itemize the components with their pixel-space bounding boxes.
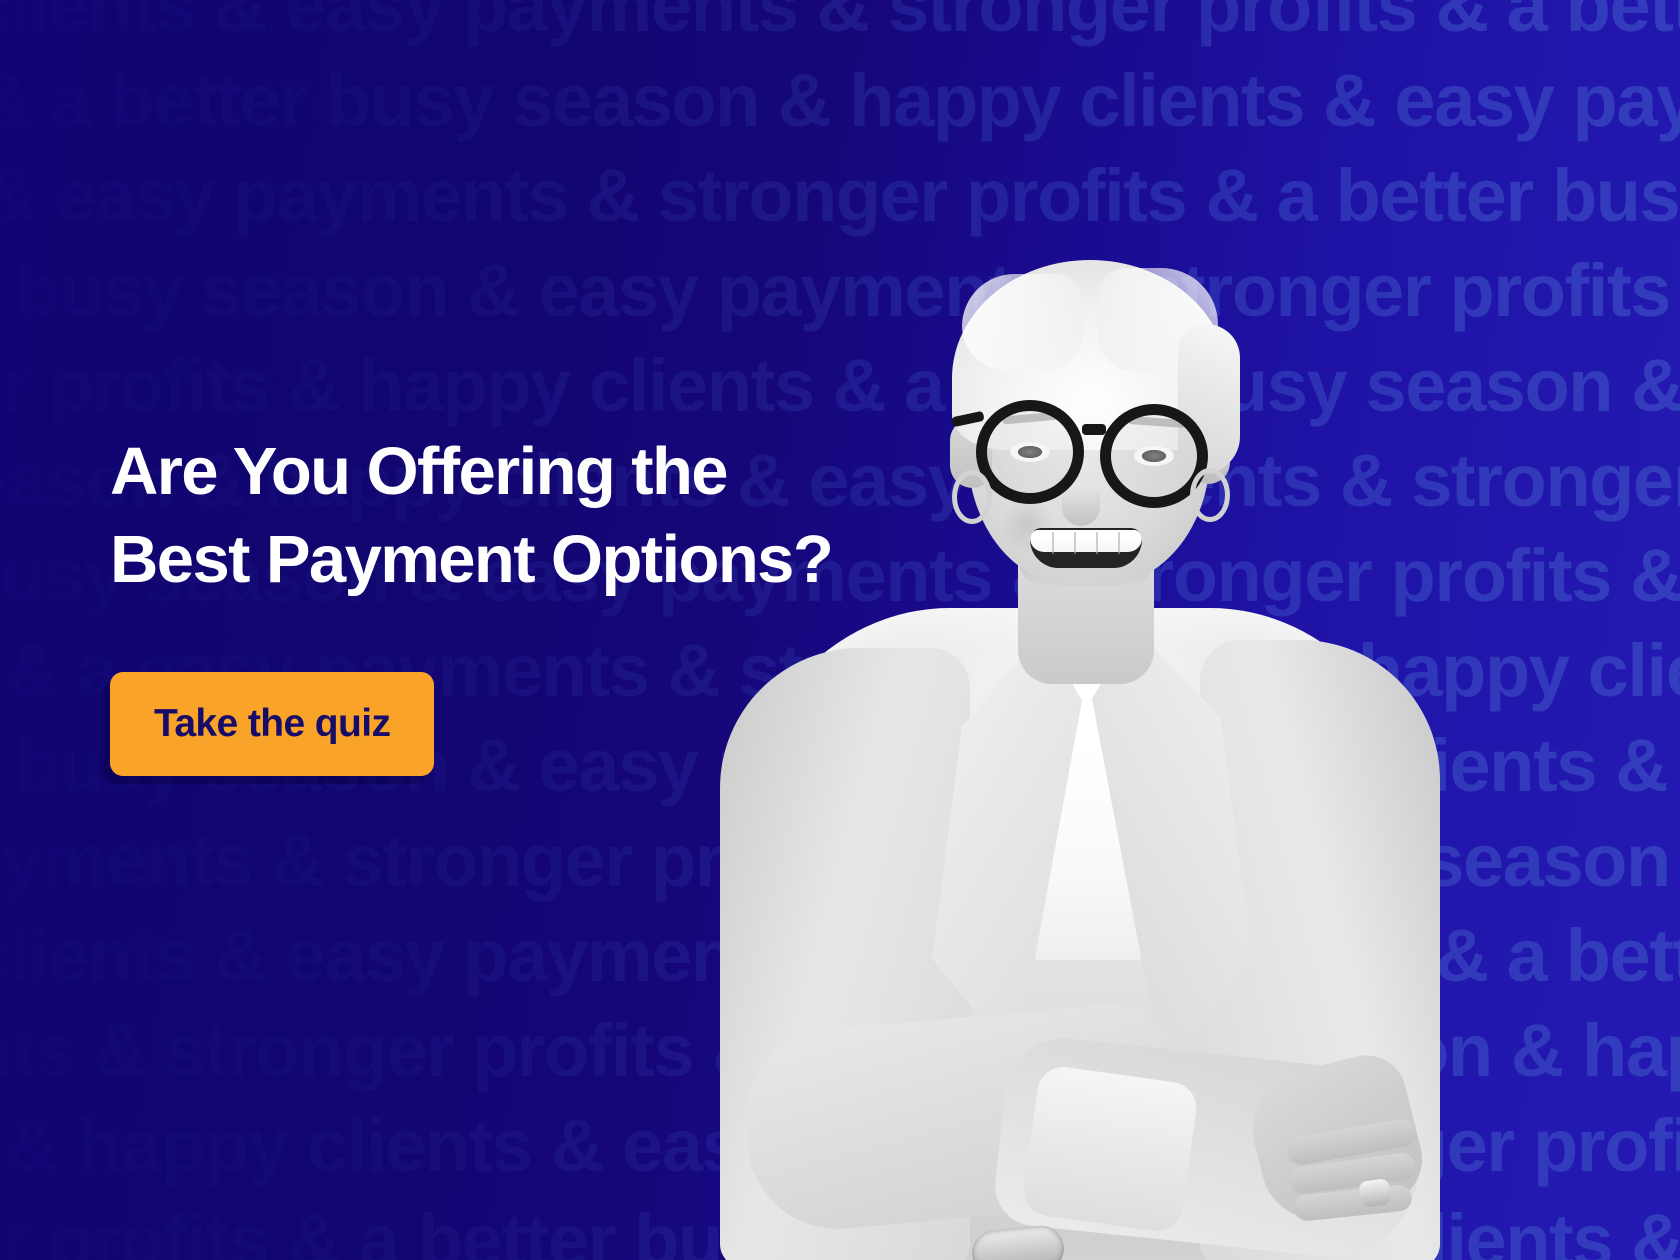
nose-shape	[1062, 464, 1100, 526]
teeth-shape	[1030, 530, 1142, 552]
headline-line-2: Best Payment Options?	[110, 516, 1010, 604]
sleeve-cuff-shape	[1020, 1064, 1199, 1235]
headline-line-1: Are You Offering the	[110, 434, 727, 509]
ring-shape	[1358, 1178, 1391, 1208]
watermark-line: profits & a better busy season & happy c…	[0, 53, 1680, 148]
mouth-shape	[1030, 528, 1142, 568]
promo-banner: happy clients & easy payments & stronger…	[0, 0, 1680, 1260]
hair-highlight	[962, 274, 1082, 370]
right-hoop-earring	[1190, 468, 1230, 522]
page-title: Are You Offering the Best Payment Option…	[110, 428, 1010, 604]
watermark-line: happy clients & easy payments & stronger…	[0, 0, 1680, 53]
take-the-quiz-button[interactable]: Take the quiz	[110, 672, 434, 776]
banner-content: Are You Offering the Best Payment Option…	[110, 428, 1010, 776]
glasses-bridge	[1082, 424, 1106, 435]
